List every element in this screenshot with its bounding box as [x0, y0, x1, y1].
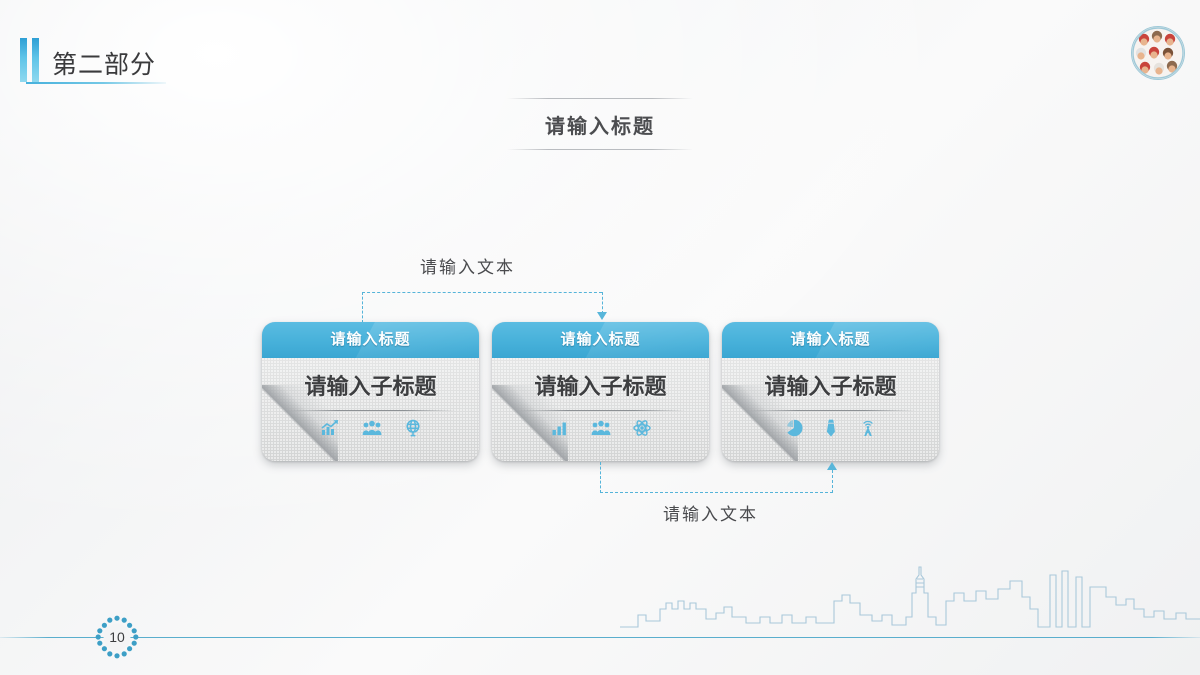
- card-body: 请输入子标题: [262, 358, 479, 461]
- card-divider: [746, 410, 916, 411]
- card-icon-row: [262, 419, 479, 437]
- info-card[interactable]: 请输入标题 请输入子标题: [262, 322, 479, 461]
- connector-bottom-horizontal-segment: [600, 492, 833, 493]
- connector-bottom-left-segment: [600, 462, 601, 493]
- card-body: 请输入子标题: [722, 358, 939, 461]
- card-row: 请输入标题 请输入子标题: [0, 322, 1200, 467]
- slide-canvas: 第二部分: [0, 0, 1200, 675]
- connector-bottom-arrow-icon: [827, 462, 837, 470]
- card-title: 请输入标题: [492, 322, 709, 358]
- card-title: 请输入标题: [262, 322, 479, 358]
- card-subtitle: 请输入子标题: [722, 358, 939, 401]
- city-skyline-graphic: [620, 557, 1200, 629]
- card-subtitle: 请输入子标题: [492, 358, 709, 401]
- globe-icon: [404, 419, 422, 437]
- section-title-block: 请输入标题: [500, 98, 700, 150]
- card-divider: [286, 410, 456, 411]
- card-icon-row: [722, 419, 939, 437]
- page-number-marker: 10: [94, 614, 140, 660]
- line-chart-up-icon: [320, 419, 340, 437]
- necktie-icon: [825, 419, 837, 437]
- connector-top-label: 请输入文本: [420, 253, 515, 278]
- card-body: 请输入子标题: [492, 358, 709, 461]
- card-title: 请输入标题: [722, 322, 939, 358]
- bar-chart-icon: [551, 419, 569, 437]
- connector-bottom-label: 请输入文本: [663, 500, 758, 525]
- card-header: 请输入标题: [492, 322, 709, 358]
- page-number: 10: [94, 614, 140, 660]
- card-divider: [516, 410, 686, 411]
- connector-top-right-segment: [602, 292, 603, 314]
- atom-icon: [633, 419, 651, 437]
- connector-top-arrow-icon: [597, 312, 607, 320]
- header-accent-bars-icon: [20, 38, 46, 82]
- card-icon-row: [492, 419, 709, 437]
- header-underline: [26, 82, 166, 84]
- info-card[interactable]: 请输入标题 请输入子标题: [492, 322, 709, 461]
- slide-header: 第二部分: [0, 30, 1200, 90]
- footer-divider-line: [0, 637, 1200, 638]
- title-rule-bottom: [507, 149, 693, 150]
- signal-tower-icon: [859, 419, 877, 437]
- card-header: 请输入标题: [262, 322, 479, 358]
- connector-top-left-segment: [362, 292, 363, 323]
- connector-top-horizontal-segment: [362, 292, 602, 293]
- cartoon-group-logo-icon: [1131, 26, 1185, 80]
- header-section-label: 第二部分: [52, 45, 156, 81]
- people-group-icon: [362, 419, 382, 437]
- card-subtitle: 请输入子标题: [262, 358, 479, 401]
- pie-chart-icon: [785, 419, 803, 437]
- people-group-icon: [591, 419, 611, 437]
- card-header: 请输入标题: [722, 322, 939, 358]
- page-title: 请输入标题: [500, 99, 700, 149]
- info-card[interactable]: 请输入标题 请输入子标题: [722, 322, 939, 461]
- connector-bottom-right-segment: [832, 470, 833, 493]
